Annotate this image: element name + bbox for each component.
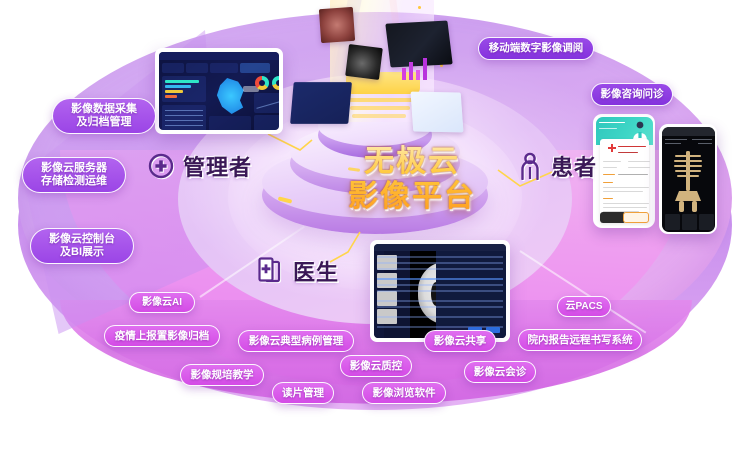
circle-plus-icon xyxy=(148,153,174,179)
mini-screen-tile-menu xyxy=(290,82,352,124)
role-patient-label: 患者 xyxy=(551,150,597,182)
role-patient[interactable]: 患者 xyxy=(518,150,597,182)
ct-report-row xyxy=(377,256,503,258)
ct-report-row xyxy=(377,284,503,286)
tag-doctor-9[interactable]: 云PACS xyxy=(557,296,611,317)
phone-3d-thumbnail[interactable] xyxy=(682,214,697,230)
phone-report-section xyxy=(603,182,613,184)
document-plus-icon xyxy=(256,256,284,286)
platform-title-line1: 无极云 xyxy=(364,145,460,178)
ct-report-row xyxy=(377,278,503,280)
tag-doctor-8[interactable]: 影像云会诊 xyxy=(464,361,536,383)
phone-report-value xyxy=(618,174,648,176)
phone-report-field xyxy=(603,167,617,169)
phone-report-hospital-name xyxy=(618,146,646,148)
hospital-cross-icon xyxy=(608,144,616,152)
ct-toolbar xyxy=(374,244,506,251)
platform-title-line2: 影像平台 xyxy=(322,179,502,214)
phone-report-secondary-button[interactable] xyxy=(623,212,649,223)
phone-3d-meta xyxy=(698,143,712,144)
ct-thumbnail[interactable] xyxy=(377,291,397,306)
dashboard-screen xyxy=(159,52,279,130)
tag-doctor-2[interactable]: 影像云典型病例管理 xyxy=(238,330,354,352)
role-doctor-label: 医生 xyxy=(293,255,339,287)
tag-admin-1[interactable]: 影像云服务器 存储检测运维 xyxy=(22,157,126,193)
phone-3d-screen xyxy=(662,127,715,232)
phone-report-field xyxy=(628,161,650,163)
tag-doctor-7[interactable]: 影像云共享 xyxy=(424,330,496,352)
dashboard-table-mid xyxy=(209,116,251,130)
phone-report-body xyxy=(603,207,647,209)
dashboard-donut-2-hole xyxy=(276,80,279,86)
infographic-canvas: 管理者 患者 医生 无极云 影像平台 影像数据采集 及归档管理 影像云服务器 存… xyxy=(0,0,750,450)
ct-report-panel xyxy=(436,251,506,338)
phone-report-section xyxy=(603,198,613,200)
tower-band-2 xyxy=(348,98,414,102)
tag-admin-2-line1: 影像云控制台 xyxy=(49,233,115,246)
phone-3d-toolbar xyxy=(662,127,715,136)
tag-admin-1-line1: 影像云服务器 xyxy=(41,162,107,175)
dashboard-donut-1-hole xyxy=(259,80,265,86)
phone-report-title xyxy=(599,122,625,124)
dashboard-table-row-3 xyxy=(165,120,203,121)
platform-title: 无极云 影像平台 xyxy=(322,144,502,215)
phone-report-body xyxy=(603,187,649,189)
dashboard-header xyxy=(159,52,279,60)
tag-doctor-5[interactable]: 影像云质控 xyxy=(340,355,412,377)
tag-doctor-10[interactable]: 院内报告远程书写系统 xyxy=(518,329,642,351)
phone-3d-thumbnail[interactable] xyxy=(665,214,680,230)
dashboard-bar-1 xyxy=(165,80,199,83)
tower-band-4 xyxy=(352,114,406,118)
dashboard-bar-3 xyxy=(165,90,183,93)
phone-report-primary-button[interactable] xyxy=(600,212,626,223)
ct-report-row xyxy=(377,306,503,308)
phone-report-field xyxy=(628,167,650,169)
skeleton-3d-render-icon xyxy=(666,149,710,213)
phone-report-screen xyxy=(596,117,653,226)
ct-report-row xyxy=(377,262,503,264)
ct-viewer-screen xyxy=(374,244,506,338)
dashboard-bar-2 xyxy=(165,85,191,88)
role-doctor[interactable]: 医生 xyxy=(256,255,339,287)
ct-report-row xyxy=(377,290,503,292)
ct-report-row xyxy=(377,300,503,302)
dashboard-kpi-3 xyxy=(210,63,238,73)
phone-3d-meta xyxy=(665,139,687,140)
mini-screen-ultrasound xyxy=(345,44,383,80)
ct-report-row xyxy=(377,326,503,328)
dashboard-table-right xyxy=(254,115,279,130)
phone-3d-meta xyxy=(692,139,712,140)
phone-report-subtitle xyxy=(599,128,617,130)
dashboard-kpi-2 xyxy=(186,63,208,73)
phone-3d-meta xyxy=(665,143,681,144)
device-phone-report[interactable] xyxy=(593,114,655,228)
device-phone-3d[interactable] xyxy=(659,124,717,234)
tag-patient-0[interactable]: 移动端数字影像调阅 xyxy=(478,37,594,60)
tag-admin-1-line2: 存储检测运维 xyxy=(41,175,107,188)
mini-screen-endoscopy xyxy=(319,7,355,43)
device-ct-viewer[interactable] xyxy=(370,240,510,342)
tag-doctor-1[interactable]: 疫情上报置影像归档 xyxy=(104,325,220,347)
tag-doctor-6[interactable]: 影像浏览软件 xyxy=(362,382,446,404)
dashboard-bar-4 xyxy=(165,95,177,98)
dashboard-kpi-1 xyxy=(162,63,184,73)
tag-admin-0-line2: 及归档管理 xyxy=(77,116,132,129)
tag-patient-1[interactable]: 影像咨询问诊 xyxy=(591,83,673,106)
ct-report-row xyxy=(377,268,503,270)
phone-3d-thumbnail[interactable] xyxy=(699,214,714,230)
phone-report-doc-type xyxy=(618,152,638,154)
phone-report-body xyxy=(603,191,643,193)
person-icon xyxy=(518,152,542,180)
role-admin-label: 管理者 xyxy=(183,150,252,182)
tag-admin-2[interactable]: 影像云控制台 及BI展示 xyxy=(30,228,134,264)
tower-band-3 xyxy=(350,106,410,110)
dashboard-area-chart xyxy=(240,63,270,73)
ct-report-row xyxy=(377,316,503,318)
dashboard-table-row-4 xyxy=(165,125,203,126)
device-dashboard[interactable] xyxy=(155,48,283,134)
dashboard-table-row-1 xyxy=(165,110,203,111)
tag-admin-2-line2: 及BI展示 xyxy=(60,246,104,259)
sparkle-2 xyxy=(418,6,421,9)
tag-doctor-3[interactable]: 影像规培教学 xyxy=(180,364,264,386)
phone-report-body xyxy=(603,203,649,205)
dashboard-table-left xyxy=(162,105,206,130)
tag-admin-0[interactable]: 影像数据采集 及归档管理 xyxy=(52,98,156,134)
role-admin[interactable]: 管理者 xyxy=(148,150,252,182)
mini-screen-table xyxy=(411,92,464,133)
tag-doctor-4[interactable]: 读片管理 xyxy=(272,382,334,404)
phone-report-field xyxy=(603,161,621,163)
dashboard-map xyxy=(215,78,247,114)
phone-report-highlight xyxy=(603,174,615,176)
tower-bar-chart-icon xyxy=(400,56,430,82)
tag-admin-0-line1: 影像数据采集 xyxy=(71,103,137,116)
dashboard-table-row-2 xyxy=(165,115,203,116)
tag-doctor-0[interactable]: 影像云AI xyxy=(129,292,195,313)
